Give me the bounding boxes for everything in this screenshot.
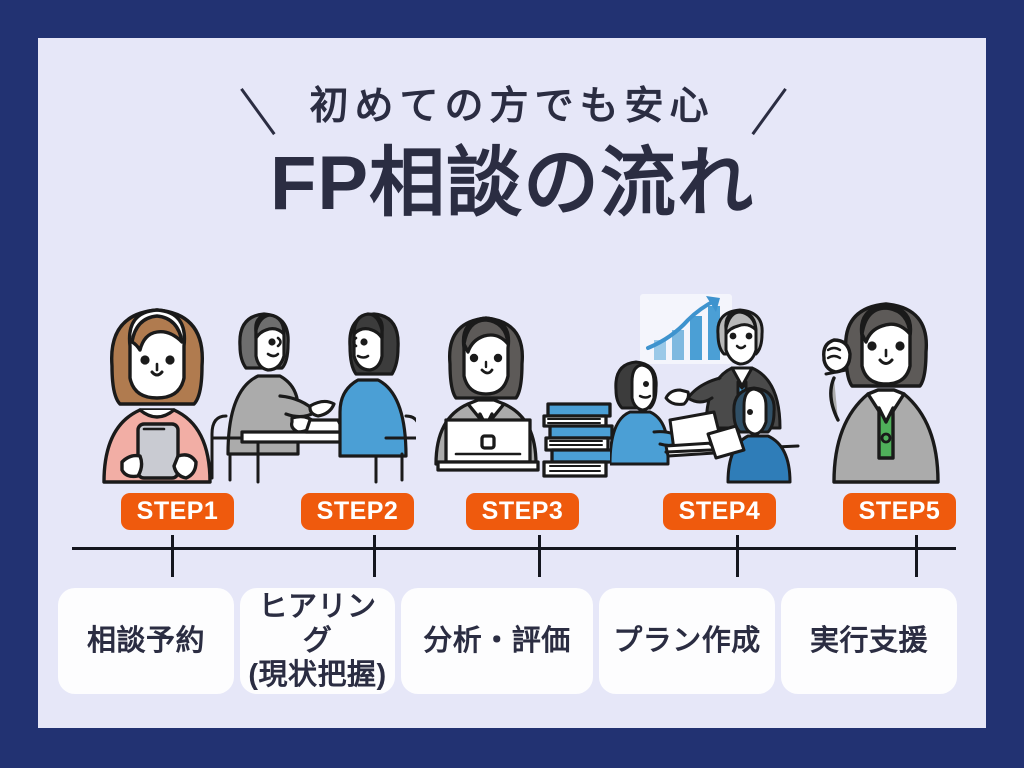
- decorative-slash-left-icon: [221, 79, 275, 133]
- step-badge-row: STEP1 STEP2 STEP3 STEP4 STEP5: [38, 493, 986, 533]
- poster-frame: 初めての方でも安心 FP相談の流れ: [0, 0, 1024, 768]
- step-label-card-3[interactable]: 分析・評価: [401, 588, 593, 694]
- step-badge-3[interactable]: STEP3: [466, 493, 579, 530]
- illustration-two-people-at-table: [206, 286, 416, 486]
- step-label-card-row: 相談予約 ヒアリング (現状把握) 分析・評価 プラン作成 実行支援: [38, 588, 986, 698]
- timeline-tick-1: [171, 535, 174, 577]
- step-badge-5[interactable]: STEP5: [843, 493, 956, 530]
- subtitle: 初めての方でも安心: [309, 87, 714, 126]
- timeline-axis: [72, 547, 956, 550]
- content-panel: 初めての方でも安心 FP相談の流れ: [38, 38, 986, 728]
- timeline-tick-3: [538, 535, 541, 577]
- step-label-card-4[interactable]: プラン作成: [599, 588, 775, 694]
- subtitle-row: 初めての方でも安心: [38, 76, 986, 136]
- illustration-man-at-laptop-with-books: [424, 286, 614, 486]
- step-badge-1[interactable]: STEP1: [121, 493, 234, 530]
- step-badge-4[interactable]: STEP4: [663, 493, 776, 530]
- illustration-man-raising-fist: [816, 286, 956, 486]
- step-label-card-2[interactable]: ヒアリング (現状把握): [240, 588, 395, 694]
- header: 初めての方でも安心 FP相談の流れ: [38, 38, 986, 268]
- step-badge-2[interactable]: STEP2: [301, 493, 414, 530]
- step-label-card-1[interactable]: 相談予約: [58, 588, 234, 694]
- step-label-card-5[interactable]: 実行支援: [781, 588, 957, 694]
- timeline-tick-2: [373, 535, 376, 577]
- timeline-tick-4: [736, 535, 739, 577]
- illustration-row: [38, 286, 986, 486]
- decorative-slash-right-icon: [749, 79, 803, 133]
- illustration-presentation-with-chart: [610, 286, 800, 486]
- page-title: FP相談の流れ: [38, 146, 986, 222]
- timeline-tick-5: [915, 535, 918, 577]
